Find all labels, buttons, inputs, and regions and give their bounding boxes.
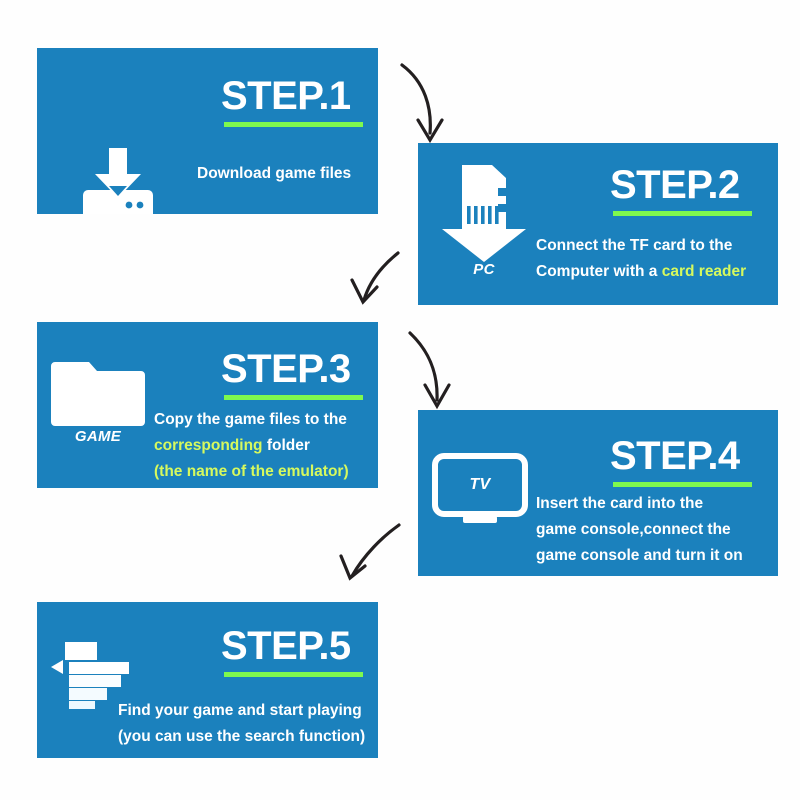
step-body-line: Computer with a card reader: [536, 259, 746, 285]
step-body-line: Connect the TF card to the: [536, 233, 746, 259]
step-card-1: STEP.1 Download game files: [37, 48, 378, 214]
step-body-line: game console and turn it on: [536, 543, 743, 569]
icon-label-3: GAME: [51, 428, 145, 445]
step-body-line: Copy the game files to the: [154, 407, 349, 433]
step-title-underline-4: [613, 482, 752, 487]
step-body-line: (you can use the search function): [118, 724, 365, 750]
step-title-5: STEP.5: [221, 624, 351, 669]
step-title-1: STEP.1: [221, 74, 351, 119]
arrow-step3-to-step4: [410, 333, 449, 406]
arrow-step4-to-step5: [341, 525, 399, 578]
arrow-step2-to-step3: [352, 253, 398, 302]
step-body-line: corresponding folder: [154, 433, 349, 459]
step-card-5: STEP.5 Find your game and start playing …: [37, 602, 378, 758]
step-title-2: STEP.2: [610, 163, 740, 208]
step-title-4: STEP.4: [610, 434, 740, 479]
step-body-line: Download game files: [197, 161, 351, 187]
step-body-4: Insert the card into the game console,co…: [536, 491, 743, 569]
step-body-1: Download game files: [197, 161, 351, 187]
step-body-text: folder: [263, 437, 310, 454]
step-body-2: Connect the TF card to the Computer with…: [536, 233, 746, 285]
icon-label-4: TV: [430, 476, 530, 494]
step-card-4: TV STEP.4 Insert the card into the game …: [418, 410, 778, 576]
tf-card-down-arrow-icon: [436, 163, 532, 263]
step-card-3: GAME STEP.3 Copy the game files to the c…: [37, 322, 378, 488]
step-body-line: game console,connect the: [536, 517, 743, 543]
step-title-underline-5: [224, 672, 363, 677]
step-body-5: Find your game and start playing (you ca…: [118, 698, 365, 750]
step-card-2: PC STEP.2 Connect the TF card to the Com…: [418, 143, 778, 305]
step-body-3: Copy the game files to the corresponding…: [154, 407, 349, 485]
download-tray-icon: [79, 146, 157, 214]
step-title-3: STEP.3: [221, 347, 351, 392]
step-title-underline-1: [224, 122, 363, 127]
step-body-highlight: card reader: [662, 263, 746, 280]
arrow-step1-to-step2: [402, 65, 442, 140]
step-title-underline-3: [224, 395, 363, 400]
step-title-underline-2: [613, 211, 752, 216]
step-body-line: Insert the card into the: [536, 491, 743, 517]
step-body-line: Find your game and start playing: [118, 698, 365, 724]
instruction-diagram: STEP.1 Download game files PC STEP.2: [0, 0, 800, 800]
step-body-text: Computer with a: [536, 263, 662, 280]
step-body-highlight: corresponding: [154, 437, 263, 454]
folder-icon: [51, 354, 145, 430]
step-body-line: (the name of the emulator): [154, 459, 349, 485]
icon-label-2: PC: [436, 261, 532, 278]
